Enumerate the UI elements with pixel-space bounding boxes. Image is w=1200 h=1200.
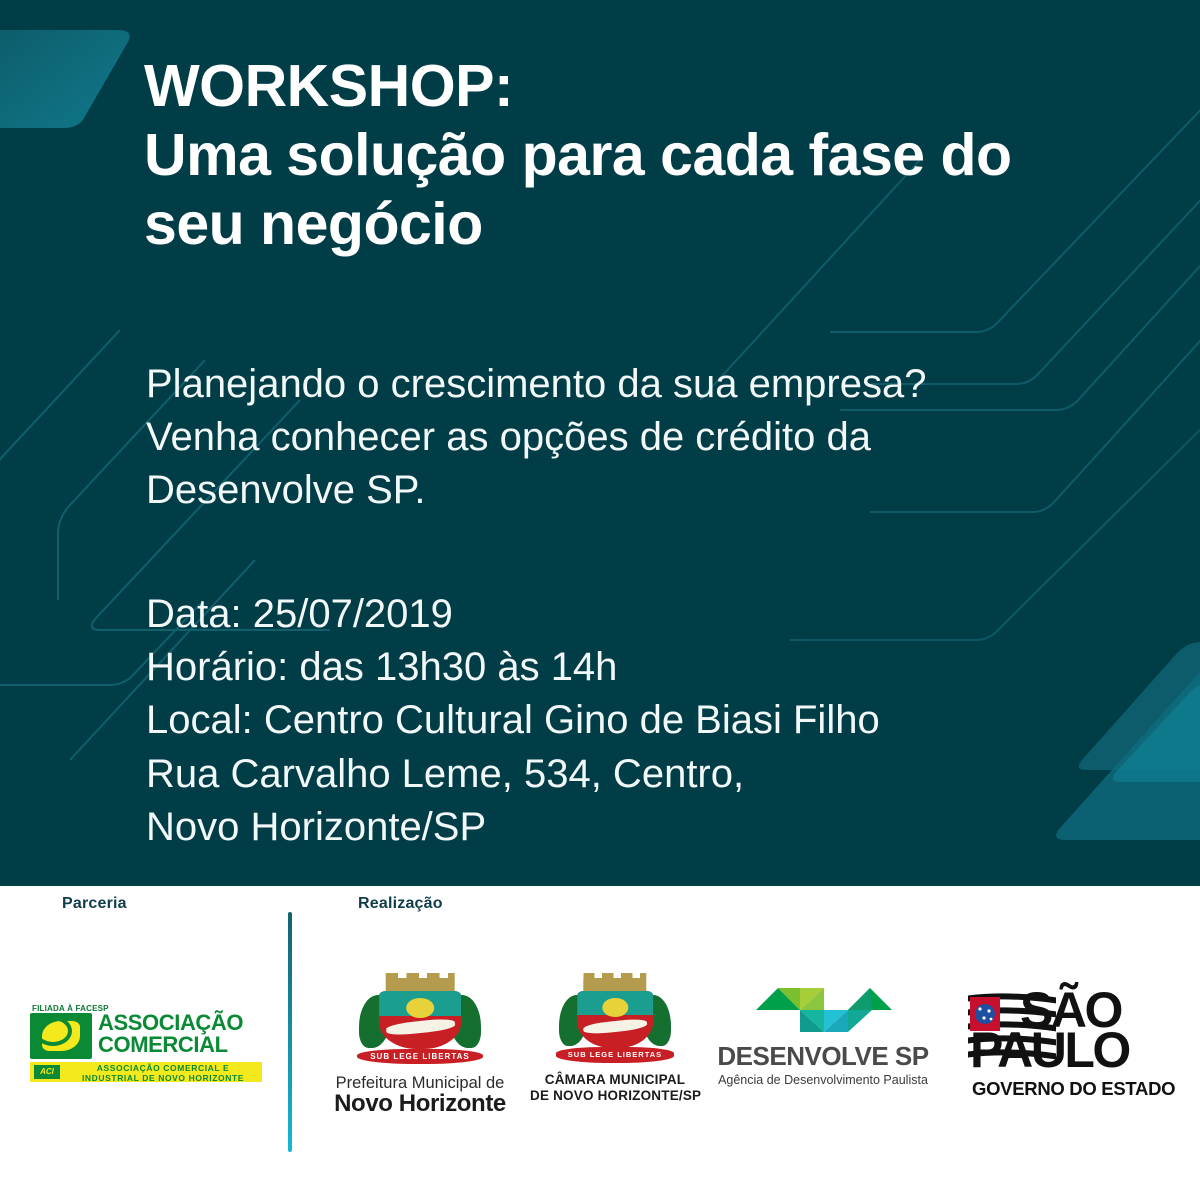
intro-line-2: Venha conhecer as opções de crédito da [146, 411, 1096, 464]
assoc-bar-line2: INDUSTRIAL DE NOVO HORIZONTE [66, 1074, 260, 1084]
desenvolve-subtitle: Agência de Desenvolvimento Paulista [712, 1073, 934, 1087]
hero-content: WORKSHOP: Uma solução para cada fase do … [144, 0, 1104, 886]
detail-street: Rua Carvalho Leme, 534, Centro, [146, 748, 1096, 801]
assoc-badge-icon: ACI [34, 1065, 60, 1079]
desenvolve-mark-icon [756, 985, 892, 1035]
assoc-name-line1: ASSOCIAÇÃO [98, 1012, 243, 1034]
assoc-bar-text: ASSOCIAÇÃO COMERCIAL E INDUSTRIAL DE NOV… [66, 1064, 260, 1084]
camara-line2: DE NOVO HORIZONTE/SP [530, 1088, 700, 1103]
assoc-yellow-bar: ACI ASSOCIAÇÃO COMERCIAL E INDUSTRIAL DE… [30, 1062, 262, 1082]
assoc-name: ASSOCIAÇÃO COMERCIAL [98, 1012, 243, 1057]
footer-divider [288, 912, 292, 1152]
assoc-name-line2: COMERCIAL [98, 1034, 243, 1056]
camara-crest-motto: SUB LEGE LIBERTAS [556, 1047, 673, 1063]
assoc-swirl-icon [30, 1013, 92, 1059]
sao-paulo-line3: GOVERNO DO ESTADO [972, 1078, 1175, 1100]
logo-desenvolve-sp: DESENVOLVE SP Agência de Desenvolvimento… [712, 985, 934, 1103]
label-realizacao: Realização [358, 895, 443, 913]
sao-paulo-line2: PAULO [970, 1025, 1129, 1075]
title-line-1: WORKSHOP: [144, 52, 1094, 121]
poster-canvas: WORKSHOP: Uma solução para cada fase do … [0, 0, 1200, 1200]
title-line-2: Uma solução para cada fase do [144, 121, 1094, 190]
logo-camara-municipal: SUB LEGE LIBERTAS CÂMARA MUNICIPAL DE NO… [530, 978, 700, 1108]
camara-crest-icon: SUB LEGE LIBERTAS [554, 978, 676, 1070]
detail-venue: Local: Centro Cultural Gino de Biasi Fil… [146, 694, 1096, 747]
logo-prefeitura-novo-horizonte: SUB LEGE LIBERTAS Prefeitura Municipal d… [330, 978, 510, 1108]
event-details: Data: 25/07/2019 Horário: das 13h30 às 1… [146, 588, 1096, 854]
logo-sao-paulo-governo: SÃO PAULO GOVERNO DO ESTADO [968, 985, 1178, 1103]
title-line-3: seu negócio [144, 190, 1094, 259]
camara-line1: CÂMARA MUNICIPAL [530, 1072, 700, 1087]
prefeitura-crest-icon: SUB LEGE LIBERTAS [354, 978, 486, 1072]
prefeitura-crest-motto: SUB LEGE LIBERTAS [357, 1049, 484, 1065]
intro-line-1: Planejando o crescimento da sua empresa? [146, 358, 1096, 411]
page-title: WORKSHOP: Uma solução para cada fase do … [144, 52, 1094, 259]
hero-section: WORKSHOP: Uma solução para cada fase do … [0, 0, 1200, 886]
prefeitura-line2: Novo Horizonte [330, 1090, 510, 1118]
detail-city: Novo Horizonte/SP [146, 801, 1096, 854]
intro-paragraph: Planejando o crescimento da sua empresa?… [146, 358, 1096, 518]
label-parceria: Parceria [62, 895, 127, 913]
detail-date: Data: 25/07/2019 [146, 588, 1096, 641]
detail-time: Horário: das 13h30 às 14h [146, 641, 1096, 694]
desenvolve-name: DESENVOLVE SP [712, 1041, 934, 1072]
intro-line-3: Desenvolve SP. [146, 464, 1096, 517]
logo-associacao-comercial: FILIADA À FACESP ASSOCIAÇÃO COMERCIAL AC… [22, 1004, 262, 1084]
